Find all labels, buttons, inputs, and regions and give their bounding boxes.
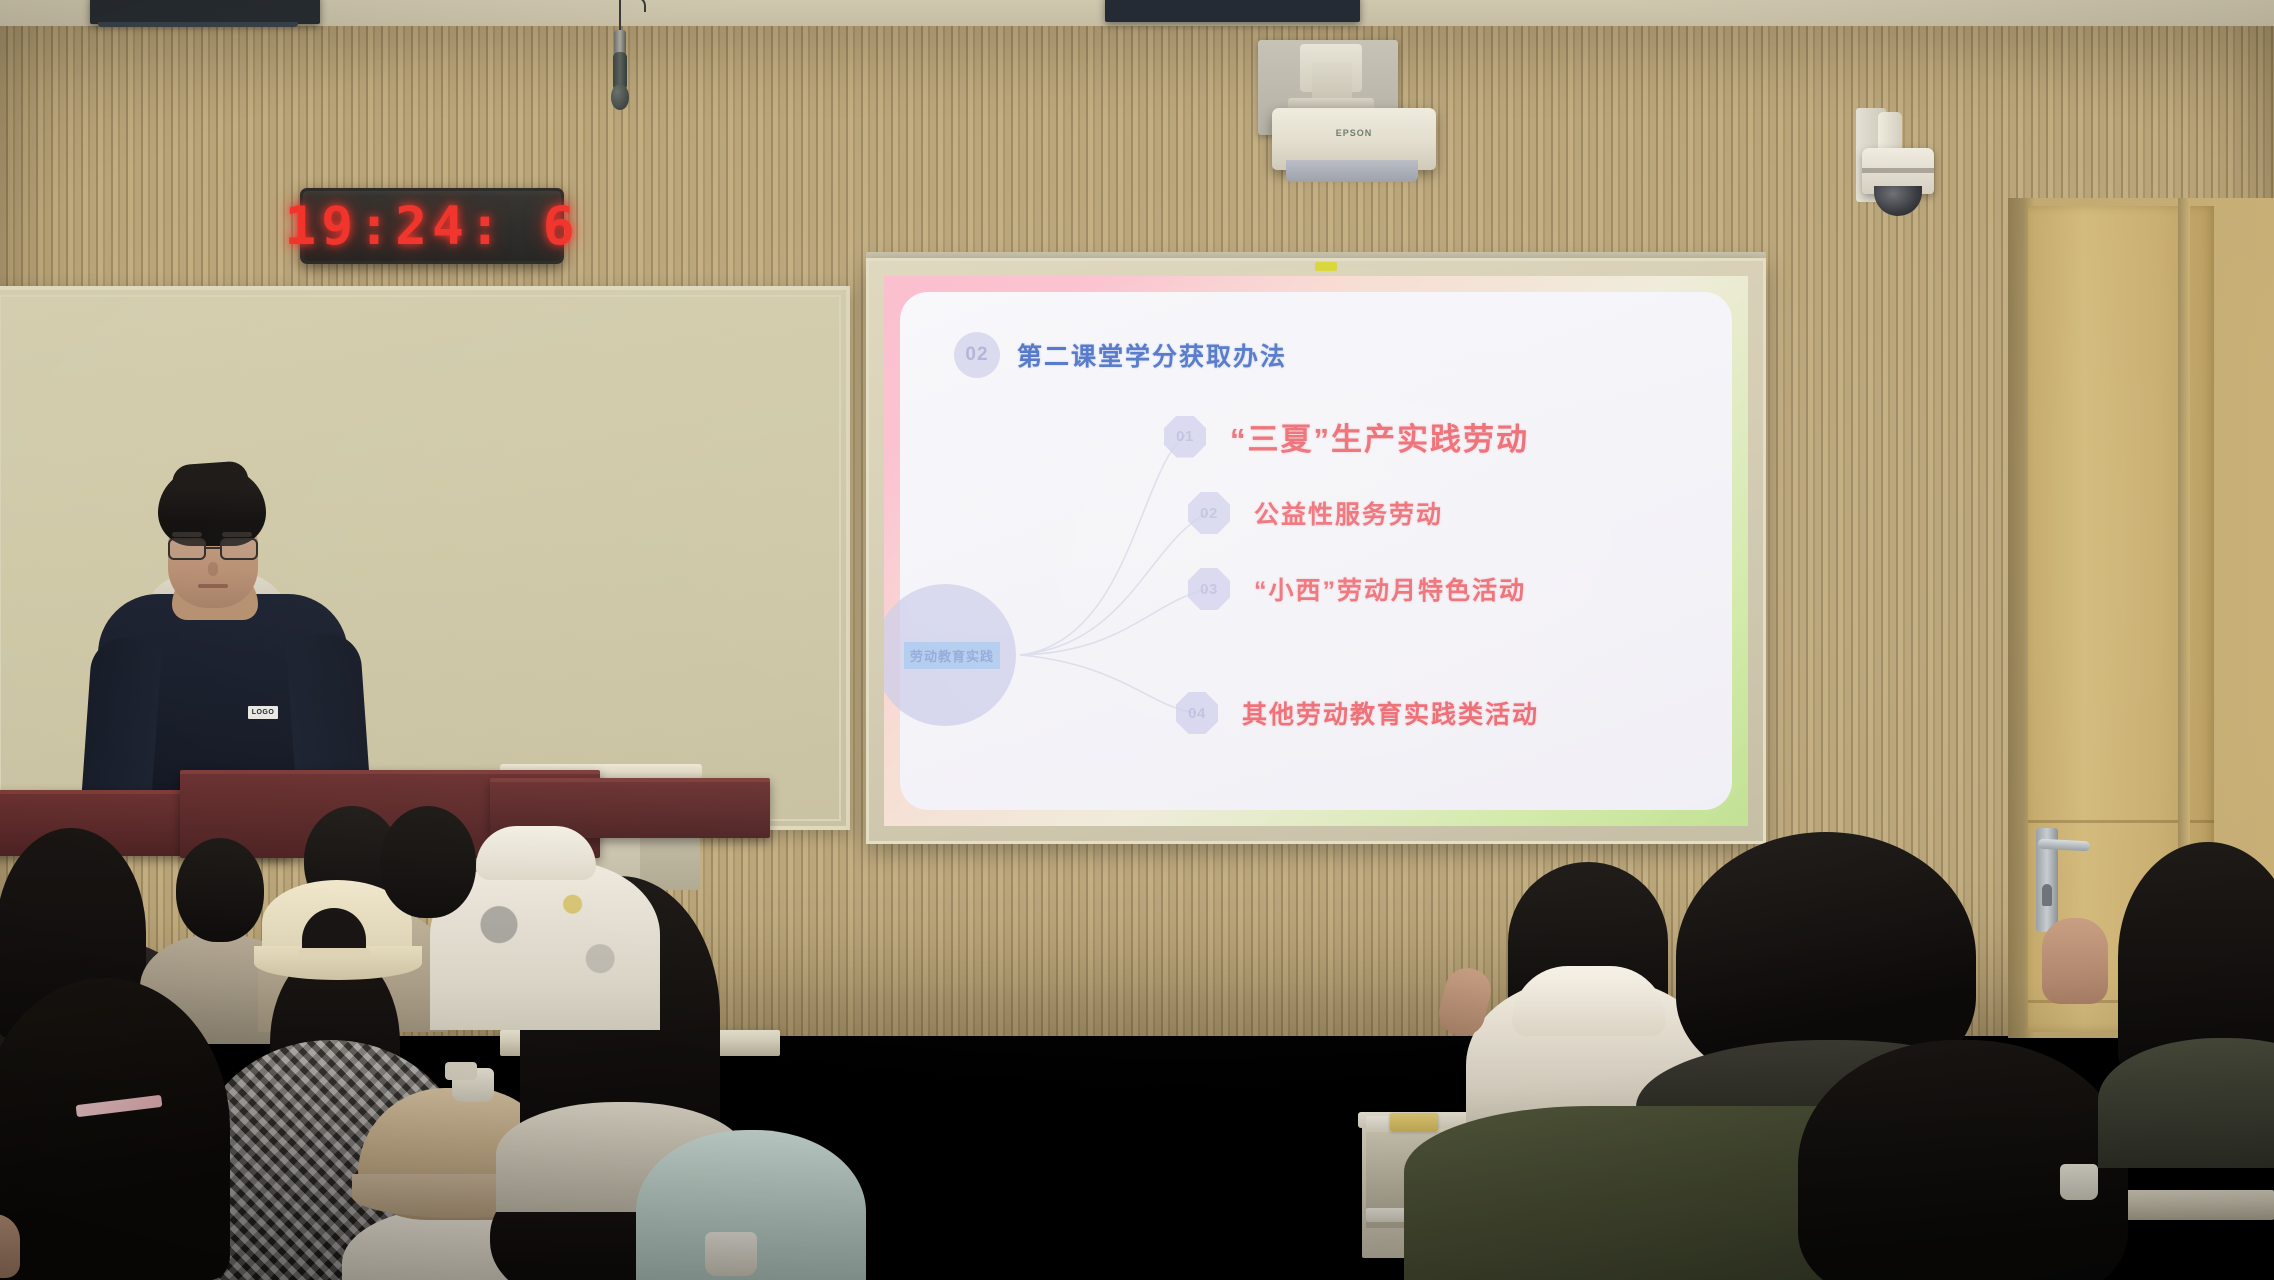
microphone-hook-icon <box>624 0 646 12</box>
paper-cup-center <box>705 1232 757 1276</box>
clock-time-display: 19:24: 6 <box>284 196 579 257</box>
hoodie-hood <box>1512 966 1666 1036</box>
cup-lid <box>445 1062 477 1080</box>
slide-item-3: 03 “小西”劳动月特色活动 <box>1188 568 1526 610</box>
mounted-panel-left <box>90 0 320 24</box>
slide-item-2: 02 公益性服务劳动 <box>1188 492 1443 534</box>
slide-title: 第二课堂学分获取办法 <box>1017 337 1287 373</box>
slide-item-1: 01 “三夏”生产实践劳动 <box>1164 414 1529 459</box>
camera-ring <box>1862 168 1934 173</box>
presenter-chest-logo: LOGO <box>248 706 278 719</box>
slide-item-2-number: 02 <box>1188 492 1230 534</box>
glasses-bridge <box>206 547 222 549</box>
student-hair <box>2118 842 2274 1072</box>
slide-item-1-number: 01 <box>1164 416 1206 458</box>
classroom-scene: 19:24: 6 EPSON <box>0 0 2274 1280</box>
screen-sticker <box>1315 262 1337 271</box>
slide-item-4-text: 其他劳动教育实践类活动 <box>1242 695 1539 731</box>
student-hand <box>2042 918 2108 1004</box>
presenter-eyebrow-right <box>222 532 252 537</box>
presenter-glasses-icon <box>166 538 262 560</box>
projector-lens <box>1286 160 1418 182</box>
microphone-head <box>611 84 629 110</box>
glasses-lens-left <box>168 538 206 560</box>
slide-item-3-number: 03 <box>1188 568 1230 610</box>
student-hair <box>0 978 230 1280</box>
slide-item-4-number: 04 <box>1176 692 1218 734</box>
presenter-eyebrow-left <box>172 532 202 537</box>
slide-section-badge: 02 <box>954 332 1000 378</box>
slide-hub-label: 劳动教育实践 <box>904 642 1000 669</box>
mounted-panel-left-lip <box>98 22 298 27</box>
slide-item-1-text: “三夏”生产实践劳动 <box>1230 414 1529 459</box>
wall-digital-clock: 19:24: 6 <box>300 188 564 264</box>
slide-content-area: 02 第二课堂学分获取办法 劳动教育实践 01 “三夏”生产实践劳动 02 公益… <box>900 292 1732 810</box>
presenter-hair-tuft <box>171 460 249 493</box>
student-head <box>380 806 476 918</box>
notebook-white-lower <box>1366 1208 1408 1222</box>
student-foreground-left <box>0 978 250 1280</box>
projector-brand-label: EPSON <box>1328 128 1380 139</box>
slide-item-2-text: 公益性服务劳动 <box>1254 495 1443 531</box>
slide-header: 02 第二课堂学分获取办法 <box>954 332 1287 378</box>
presenter-mouth <box>198 584 228 588</box>
paper-cup <box>2060 1164 2098 1200</box>
door-keyhole-icon <box>2042 884 2052 906</box>
student-head <box>1798 1040 2128 1280</box>
student-far-right-edge <box>2118 842 2274 1142</box>
cap-strap <box>298 948 370 958</box>
slide-item-3-text: “小西”劳动月特色活动 <box>1254 571 1526 607</box>
student-back-center <box>370 806 500 956</box>
slide-item-4: 04 其他劳动教育实践类活动 <box>1176 692 1539 734</box>
student-front-right <box>1798 1040 2128 1280</box>
presentation-slide: 02 第二课堂学分获取办法 劳动教育实践 01 “三夏”生产实践劳动 02 公益… <box>884 276 1748 826</box>
mounted-panel-right <box>1105 0 1360 22</box>
glasses-lens-right <box>220 538 258 560</box>
hanging-microphone <box>600 0 640 120</box>
presenter-nose <box>208 562 218 576</box>
